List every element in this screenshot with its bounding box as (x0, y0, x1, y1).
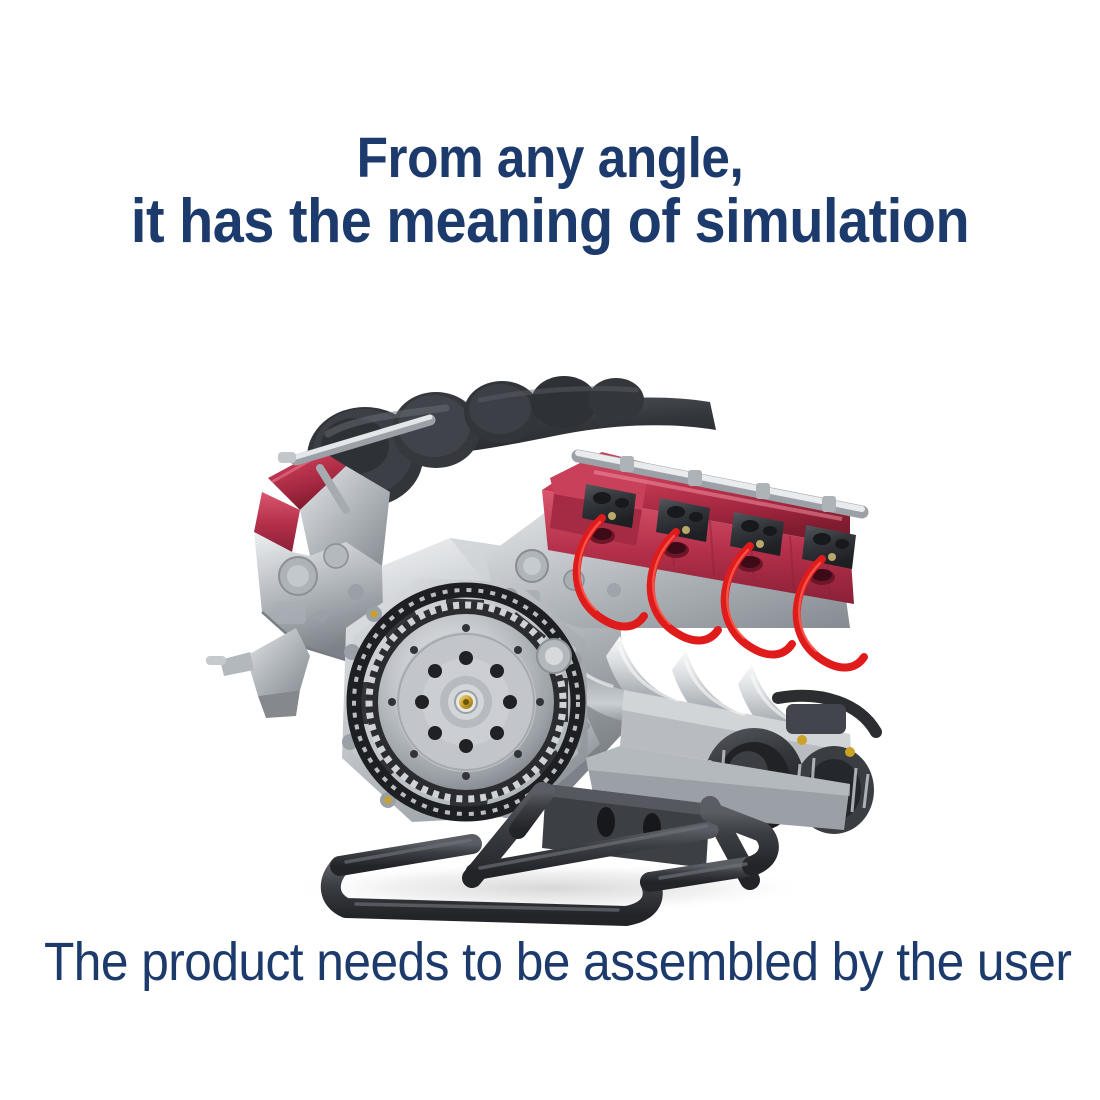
page-caption: The product needs to be assembled by the… (44, 932, 1056, 992)
v8-engine-illustration (150, 360, 950, 930)
page-headline: From any angle, it has the meaning of si… (55, 126, 1045, 254)
product-marketing-image: From any angle, it has the meaning of si… (0, 0, 1100, 1100)
water-pump-outlet (206, 628, 310, 718)
headline-line-1: From any angle, (55, 126, 1045, 190)
headline-line-2: it has the meaning of simulation (55, 190, 1045, 254)
caption-text: The product needs to be assembled by the… (44, 932, 1071, 992)
product-image (150, 360, 950, 930)
